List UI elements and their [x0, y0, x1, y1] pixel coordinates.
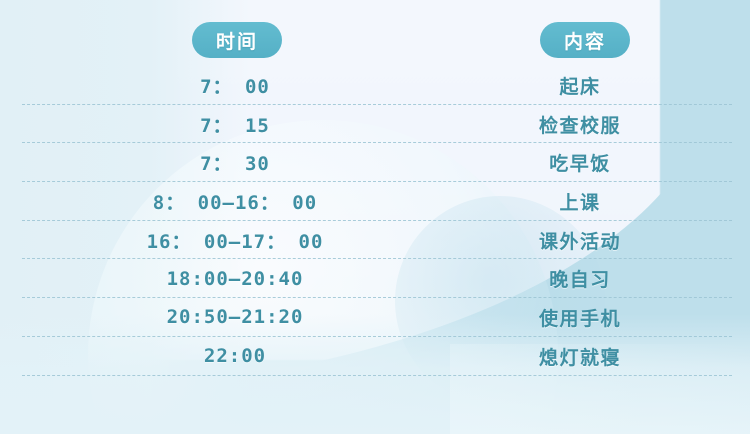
table-row: 8： 00—16： 00上课 [0, 182, 750, 221]
cell-time: 22:00 [90, 337, 380, 376]
table-row: 22:00熄灯就寝 [0, 337, 750, 376]
cell-content: 晚自习 [455, 259, 705, 298]
cell-time: 16： 00—17： 00 [90, 221, 380, 260]
cell-time: 8： 00—16： 00 [90, 182, 380, 221]
cell-content: 起床 [455, 66, 705, 105]
cell-content: 吃早饭 [455, 143, 705, 182]
cell-content: 熄灯就寝 [455, 337, 705, 376]
table-row: 16： 00—17： 00课外活动 [0, 221, 750, 260]
cell-time: 7： 15 [90, 105, 380, 144]
row-divider [22, 375, 732, 376]
schedule-table: 时间 内容 7： 00起床7： 15检查校服7： 30吃早饭8： 00—16： … [0, 0, 750, 434]
table-header-row: 时间 内容 [0, 22, 750, 60]
table-row: 7： 15检查校服 [0, 105, 750, 144]
cell-time: 7： 30 [90, 143, 380, 182]
table-row: 20:50—21:20使用手机 [0, 298, 750, 337]
cell-content: 上课 [455, 182, 705, 221]
schedule-card: 时间 内容 7： 00起床7： 15检查校服7： 30吃早饭8： 00—16： … [0, 0, 750, 434]
cell-content: 使用手机 [455, 298, 705, 337]
column-header-time: 时间 [192, 22, 282, 58]
cell-time: 7： 00 [90, 66, 380, 105]
cell-content: 课外活动 [455, 221, 705, 260]
cell-time: 20:50—21:20 [90, 298, 380, 337]
cell-time: 18:00—20:40 [90, 259, 380, 298]
column-header-content: 内容 [540, 22, 630, 58]
cell-content: 检查校服 [455, 105, 705, 144]
table-row: 7： 30吃早饭 [0, 143, 750, 182]
table-body: 7： 00起床7： 15检查校服7： 30吃早饭8： 00—16： 00上课16… [0, 66, 750, 376]
table-row: 7： 00起床 [0, 66, 750, 105]
table-row: 18:00—20:40晚自习 [0, 259, 750, 298]
